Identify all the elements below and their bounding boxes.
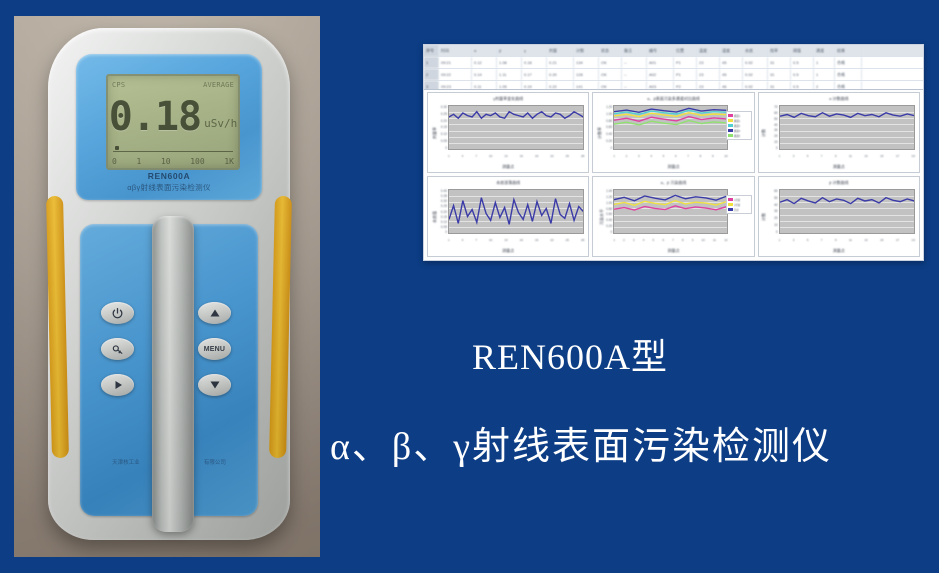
chart-x-tick: 1 [779, 154, 781, 161]
table-cell: 23 [697, 81, 720, 90]
chart-panel: γ剂量率变化曲线剂量率0.300.250.200.150.100.0501471… [427, 92, 589, 173]
table-cell: P2 [674, 81, 697, 90]
chart-panel-title: α、β 污染曲线 [593, 180, 753, 186]
chart-x-axis-label: 测量点 [759, 248, 919, 254]
table-cell: 合格 [835, 81, 862, 90]
lcd-bargraph [113, 145, 233, 152]
chart-legend-swatch [728, 114, 733, 117]
chart-x-tick: 7 [821, 154, 823, 161]
lcd-status-left: CPS [112, 81, 125, 89]
chart-y-tick: 0.30 [435, 105, 447, 109]
chart-series-svg [614, 190, 726, 233]
chart-x-tick: 10 [489, 154, 492, 161]
table-header-cell: 阈值 [791, 45, 814, 56]
chart-x-tick: 3 [793, 154, 795, 161]
chart-legend-label: 合计 [734, 208, 739, 212]
table-cell: 合格 [835, 69, 862, 80]
chart-x-tick: 3 [633, 238, 635, 245]
chart-plot-area [448, 189, 584, 234]
chart-x-tick: 9 [712, 154, 714, 161]
chart-x-tick: 8 [682, 238, 684, 245]
chart-x-tick: 16 [520, 238, 523, 245]
chart-x-tick: 22 [550, 238, 553, 245]
table-cell: 0.18 [522, 57, 547, 68]
table-header-cell: 序号 [424, 45, 439, 56]
table-cell: P1 [674, 57, 697, 68]
chart-legend-item: 通道5 [728, 133, 750, 138]
chart-x-tick: 4 [650, 154, 652, 161]
chart-y-tick: 0.25 [435, 204, 447, 208]
chart-y-tick: 0.20 [600, 139, 612, 143]
table-header-cell: 效率 [768, 45, 791, 56]
chart-x-tick: 13 [504, 238, 507, 245]
chart-y-tick: 1.20 [600, 195, 612, 199]
table-cell: 1 [814, 57, 835, 68]
lcd-bargraph-marker [115, 146, 119, 150]
table-header-cell: 剂量 [547, 45, 574, 56]
power-icon [111, 307, 124, 320]
lcd-scale-tick: 0 [112, 157, 117, 166]
chart-x-tick: 13 [504, 154, 507, 161]
chart-y-tick-labels: 0.400.350.300.250.200.150.100.050 [435, 189, 447, 234]
chart-x-tick: 17 [896, 238, 899, 245]
table-cell: 141 [574, 81, 599, 90]
table-cell: OK [599, 57, 622, 68]
chart-x-tick: 1 [779, 238, 781, 245]
chart-series-line [449, 198, 583, 225]
chart-x-tick: 10 [702, 238, 705, 245]
chart-x-tick: 10 [724, 154, 727, 161]
table-header-cell: 位置 [674, 45, 697, 56]
chart-x-tick: 16 [520, 154, 523, 161]
table-cell: 1.08 [497, 57, 522, 68]
chart-y-tick-labels: 706050403020100 [766, 105, 778, 150]
chart-y-tick: 70 [766, 105, 778, 109]
chart-x-axis-label: 测量点 [428, 248, 588, 254]
chart-y-tick: 0.05 [435, 139, 447, 143]
chart-x-tick: 19 [912, 238, 915, 245]
chart-y-tick: 0.60 [600, 125, 612, 129]
chart-y-tick: 60 [766, 111, 778, 115]
chart-series-line [780, 198, 914, 204]
chart-y-tick: 0.15 [435, 215, 447, 219]
chart-x-tick: 7 [475, 154, 477, 161]
device-brand-label: REN600A αβγ射线表面污染检测仪 [76, 171, 262, 193]
data-table: 序号时间αβγ剂量计数状态备注编号位置温度湿度本底效率阈值通道结果109:210… [424, 45, 923, 90]
chart-x-tick: 1 [613, 154, 615, 161]
table-header-cell: 编号 [647, 45, 674, 56]
table-cell: 1.11 [497, 69, 522, 80]
chart-x-tick: 11 [849, 238, 852, 245]
lcd-scale-tick: 1 [136, 157, 141, 166]
chart-x-tick: 7 [672, 238, 674, 245]
power-button[interactable] [101, 302, 134, 324]
table-cell: 0.22 [547, 81, 574, 90]
chart-series-line [614, 195, 726, 200]
chart-y-tick: 0.20 [600, 224, 612, 228]
lcd-status-row: CPS AVERAGE [112, 79, 234, 91]
table-cell: 0.5 [791, 69, 814, 80]
chart-x-tick: 22 [550, 154, 553, 161]
chart-legend-label: 通道3 [734, 124, 741, 128]
chart-y-tick: 0 [766, 146, 778, 150]
chart-y-tick: 0.25 [435, 112, 447, 116]
chart-legend-swatch [728, 208, 733, 211]
chart-y-tick: 0.35 [435, 194, 447, 198]
play-icon [112, 379, 124, 391]
chart-legend-label: 通道1 [734, 114, 741, 118]
chart-x-tick: 19 [912, 154, 915, 161]
chart-panel-title: β 计数曲线 [759, 180, 919, 186]
lcd-scale-tick: 1K [224, 157, 234, 166]
device-model-text: REN600A [76, 171, 262, 181]
table-cell: 45 [720, 69, 743, 80]
menu-button-label: MENU [204, 346, 225, 353]
table-cell: 45 [720, 57, 743, 68]
chart-legend-label: 通道2 [734, 119, 741, 123]
chart-x-tick: 8 [700, 154, 702, 161]
chart-y-tick: 1.20 [600, 105, 612, 109]
table-header-cell: 时间 [439, 45, 472, 56]
device-ren600a: CPS AVERAGE 0.18 uSv/h 0 1 10 100 1K [48, 28, 290, 540]
chart-panel: α 计数曲线计数706050403020100135791113151719测量… [758, 92, 920, 173]
chart-panel: α、β 污染曲线污染水平1.401.201.000.800.600.400.20… [592, 176, 754, 257]
chart-x-tick: 7 [821, 238, 823, 245]
chart-x-tick-labels: 135791113151719 [779, 154, 915, 161]
chart-legend-label: 通道4 [734, 129, 741, 133]
table-cell: 134 [574, 57, 599, 68]
backlight-button[interactable] [101, 338, 134, 360]
table-cell: 0.21 [547, 57, 574, 68]
chart-y-tick: 1.00 [600, 112, 612, 116]
chart-x-tick: 19 [535, 238, 538, 245]
lcd-scale-tick: 10 [161, 157, 171, 166]
table-cell: 46 [720, 81, 743, 90]
chart-panel-grid: γ剂量率变化曲线剂量率0.300.250.200.150.100.0501471… [427, 92, 920, 257]
chart-panel-title: 本底涨落曲线 [428, 180, 588, 186]
lcd-scale-row: 0 1 10 100 1K [112, 155, 234, 167]
chart-y-tick: 0 [766, 230, 778, 234]
chart-legend-label: β污染 [734, 203, 741, 207]
device-hand-strap [152, 216, 194, 532]
chart-x-tick: 12 [724, 238, 727, 245]
chart-panel-title: α 计数曲线 [759, 96, 919, 102]
manufacturer-right: 有限公司 [204, 458, 226, 466]
chart-x-tick: 5 [663, 154, 665, 161]
chart-x-tick-labels: 14710131619222528 [448, 154, 584, 161]
table-row: 309:230.111.050.190.22141OK--A03P223460.… [424, 81, 923, 90]
triangle-down-icon [209, 379, 221, 391]
table-cell: 23 [697, 69, 720, 80]
chart-panel: α、β表面污染多通道对比曲线计数率1.201.000.800.600.400.2… [592, 92, 754, 173]
chart-x-tick-labels: 14710131619222528 [448, 238, 584, 245]
table-header-cell: 计数 [574, 45, 599, 56]
table-cell: 31 [768, 57, 791, 68]
chart-y-tick: 0 [435, 146, 447, 150]
chart-x-axis-label: 测量点 [428, 164, 588, 170]
table-cell: 31 [768, 81, 791, 90]
chart-y-tick: 0.20 [435, 210, 447, 214]
chart-legend-swatch [728, 124, 733, 127]
chart-legend-swatch [728, 134, 733, 137]
chart-x-tick: 5 [807, 154, 809, 161]
chart-series-line [614, 117, 726, 122]
chart-x-axis-label: 测量点 [593, 164, 753, 170]
chart-y-tick: 40 [766, 123, 778, 127]
chart-x-tick: 1 [448, 238, 450, 245]
chart-y-tick: 0 [435, 230, 447, 234]
lcd-reading: 0.18 uSv/h [112, 92, 234, 142]
chart-y-tick: 0.40 [600, 218, 612, 222]
table-cell: 23 [697, 57, 720, 68]
lcd-unit: uSv/h [204, 117, 237, 130]
table-cell: 2 [814, 81, 835, 90]
slide-canvas: CPS AVERAGE 0.18 uSv/h 0 1 10 100 1K [0, 0, 939, 573]
page-title: REN600A型 [472, 328, 668, 380]
chart-y-tick: 0.15 [435, 125, 447, 129]
chart-y-tick: 0.60 [600, 212, 612, 216]
chart-x-tick: 2 [623, 238, 625, 245]
chart-y-tick: 50 [766, 196, 778, 200]
table-header-cell: β [497, 45, 522, 56]
chart-series-svg [780, 190, 914, 233]
down-button[interactable] [198, 374, 231, 396]
up-button[interactable] [198, 302, 231, 324]
chart-y-tick: 50 [766, 117, 778, 121]
table-cell: 09:21 [439, 57, 472, 68]
table-cell: 0.12 [472, 57, 497, 68]
table-cell: 09:23 [439, 81, 472, 90]
chart-series-svg [449, 106, 583, 149]
chart-y-tick-labels: 6050403020100 [766, 189, 778, 234]
chart-y-tick: 0.05 [435, 225, 447, 229]
table-cell: 0.19 [522, 81, 547, 90]
chart-x-tick: 7 [687, 154, 689, 161]
chart-x-tick: 11 [713, 238, 716, 245]
table-cell: A01 [647, 57, 674, 68]
chart-y-tick-labels: 0.300.250.200.150.100.050 [435, 105, 447, 150]
chart-plot-area [779, 189, 915, 234]
chart-panel: 本底涨落曲线本底值0.400.350.300.250.200.150.100.0… [427, 176, 589, 257]
device-subtitle-text: αβγ射线表面污染检测仪 [76, 182, 262, 192]
chart-y-tick: 0.80 [600, 207, 612, 211]
chart-legend-swatch [728, 203, 733, 206]
product-photo: CPS AVERAGE 0.18 uSv/h 0 1 10 100 1K [14, 16, 320, 557]
chart-legend-label: α污染 [734, 198, 741, 202]
chart-series-line [614, 206, 726, 210]
chart-legend-item: 合计 [728, 207, 750, 212]
chart-x-axis-label: 测量点 [593, 248, 753, 254]
chart-legend-swatch [728, 198, 733, 201]
chart-x-axis-label: 测量点 [759, 164, 919, 170]
table-cell: 0.5 [791, 57, 814, 68]
chart-y-tick: 20 [766, 134, 778, 138]
chart-y-tick: 30 [766, 128, 778, 132]
chart-x-tick: 3 [638, 154, 640, 161]
device-manufacturer-text: 天津核工业 有限公司 [80, 458, 258, 466]
chart-y-tick: 10 [766, 223, 778, 227]
chart-x-tick: 5 [807, 238, 809, 245]
chart-panel-title: α、β表面污染多通道对比曲线 [593, 96, 753, 102]
chart-series-line [614, 121, 726, 125]
chart-y-tick-labels: 1.201.000.800.600.400.200 [600, 105, 612, 150]
lcd-status-right: AVERAGE [203, 81, 234, 89]
chart-legend: 通道1通道2通道3通道4通道5 [726, 111, 752, 140]
chart-series-line [449, 112, 583, 119]
table-cell: 0.02 [743, 69, 768, 80]
chart-series-line [780, 113, 914, 118]
chart-y-tick: 0.80 [600, 119, 612, 123]
table-cell: 0.5 [791, 81, 814, 90]
chart-legend: α污染β污染合计 [726, 195, 752, 214]
chart-x-tick-labels: 135791113151719 [779, 238, 915, 245]
chart-x-tick: 19 [535, 154, 538, 161]
chart-panel: β 计数曲线计数6050403020100135791113151719测量点 [758, 176, 920, 257]
chart-x-tick: 13 [864, 238, 867, 245]
chart-x-tick: 28 [581, 154, 584, 161]
table-cell: 0.20 [547, 69, 574, 80]
table-cell: -- [622, 57, 647, 68]
page-subtitle: α、β、γ射线表面污染检测仪 [330, 415, 832, 470]
chart-x-tick: 9 [692, 238, 694, 245]
chart-y-tick: 0 [600, 230, 612, 234]
chart-x-tick: 1 [613, 238, 615, 245]
chart-plot-area [779, 105, 915, 150]
chart-x-tick: 4 [643, 238, 645, 245]
table-cell: -- [622, 69, 647, 80]
chart-y-tick: 0.30 [435, 199, 447, 203]
chart-x-tick: 15 [880, 238, 883, 245]
chart-y-tick: 40 [766, 203, 778, 207]
table-row: 209:220.141.110.170.20128OK--A02P123450.… [424, 69, 923, 81]
table-header-row: 序号时间αβγ剂量计数状态备注编号位置温度湿度本底效率阈值通道结果 [424, 45, 923, 57]
table-cell: 09:22 [439, 69, 472, 80]
table-cell: -- [622, 81, 647, 90]
table-cell: A02 [647, 69, 674, 80]
table-cell: 0.11 [472, 81, 497, 90]
chart-x-tick: 6 [662, 238, 664, 245]
table-cell: 1.05 [497, 81, 522, 90]
chart-y-tick: 10 [766, 140, 778, 144]
table-header-cell: 状态 [599, 45, 622, 56]
chart-y-tick: 60 [766, 189, 778, 193]
table-cell: 0.14 [472, 69, 497, 80]
chart-y-tick: 0.40 [600, 132, 612, 136]
chart-x-tick: 25 [566, 154, 569, 161]
chart-x-tick: 7 [475, 238, 477, 245]
chart-x-tick: 17 [896, 154, 899, 161]
table-cell: 2 [424, 69, 439, 80]
chart-x-tick: 6 [675, 154, 677, 161]
chart-x-tick: 11 [849, 154, 852, 161]
chart-y-tick: 0 [600, 146, 612, 150]
chart-y-tick: 0.40 [435, 189, 447, 193]
lcd-scale-tick: 100 [190, 157, 204, 166]
table-cell: 合格 [835, 57, 862, 68]
table-header-cell: 湿度 [720, 45, 743, 56]
chart-y-tick: 1.40 [600, 189, 612, 193]
manufacturer-left: 天津核工业 [112, 458, 140, 466]
chart-series-line [614, 201, 726, 206]
chart-series-svg [614, 106, 726, 149]
chart-legend-swatch [728, 119, 733, 122]
chart-x-tick-labels: 123456789101112 [613, 238, 727, 245]
table-cell: OK [599, 69, 622, 80]
triangle-up-icon [209, 307, 221, 319]
chart-y-tick: 1.00 [600, 201, 612, 205]
table-cell: 31 [768, 69, 791, 80]
table-cell: 1 [814, 69, 835, 80]
table-cell: 1 [424, 57, 439, 68]
chart-y-tick-labels: 1.401.201.000.800.600.400.200 [600, 189, 612, 234]
menu-button[interactable]: MENU [198, 338, 231, 360]
table-cell: 0.17 [522, 69, 547, 80]
chart-x-tick: 13 [864, 154, 867, 161]
chart-x-tick: 9 [835, 154, 837, 161]
chart-series-svg [449, 190, 583, 233]
table-cell: 0.02 [743, 81, 768, 90]
start-button[interactable] [101, 374, 134, 396]
table-header-cell: 结果 [835, 45, 862, 56]
chart-x-tick: 1 [448, 154, 450, 161]
chart-y-tick: 30 [766, 209, 778, 213]
chart-x-tick: 3 [793, 238, 795, 245]
table-cell: 0.02 [743, 57, 768, 68]
chart-legend-swatch [728, 129, 733, 132]
key-icon [111, 343, 125, 356]
chart-x-tick: 28 [581, 238, 584, 245]
chart-y-tick: 20 [766, 216, 778, 220]
table-header-cell: 备注 [622, 45, 647, 56]
device-lcd-screen: CPS AVERAGE 0.18 uSv/h 0 1 10 100 1K [106, 74, 240, 170]
chart-x-tick: 5 [653, 238, 655, 245]
table-header-cell: γ [522, 45, 547, 56]
chart-x-tick: 4 [462, 238, 464, 245]
chart-plot-area [613, 105, 727, 150]
table-header-cell: 通道 [814, 45, 835, 56]
table-row: 109:210.121.080.180.21134OK--A01P123450.… [424, 57, 923, 69]
software-screenshot: 序号时间αβγ剂量计数状态备注编号位置温度湿度本底效率阈值通道结果109:210… [423, 44, 924, 261]
table-header-cell: 本底 [743, 45, 768, 56]
chart-x-tick: 2 [626, 154, 628, 161]
chart-x-tick: 10 [489, 238, 492, 245]
table-header-cell: 温度 [697, 45, 720, 56]
chart-plot-area [448, 105, 584, 150]
table-cell: A03 [647, 81, 674, 90]
chart-x-tick: 9 [835, 238, 837, 245]
chart-panel-title: γ剂量率变化曲线 [428, 96, 588, 102]
table-cell: 3 [424, 81, 439, 90]
chart-series-svg [780, 106, 914, 149]
chart-x-tick: 4 [462, 154, 464, 161]
chart-x-tick-labels: 12345678910 [613, 154, 727, 161]
chart-x-tick: 25 [566, 238, 569, 245]
chart-y-tick: 0.20 [435, 119, 447, 123]
table-cell: P1 [674, 69, 697, 80]
lcd-value: 0.18 [109, 97, 201, 137]
table-cell: OK [599, 81, 622, 90]
chart-x-tick: 15 [880, 154, 883, 161]
table-header-cell: α [472, 45, 497, 56]
chart-y-tick: 0.10 [435, 132, 447, 136]
table-cell: 128 [574, 69, 599, 80]
chart-plot-area [613, 189, 727, 234]
chart-y-tick: 0.10 [435, 220, 447, 224]
chart-legend-label: 通道5 [734, 134, 741, 138]
